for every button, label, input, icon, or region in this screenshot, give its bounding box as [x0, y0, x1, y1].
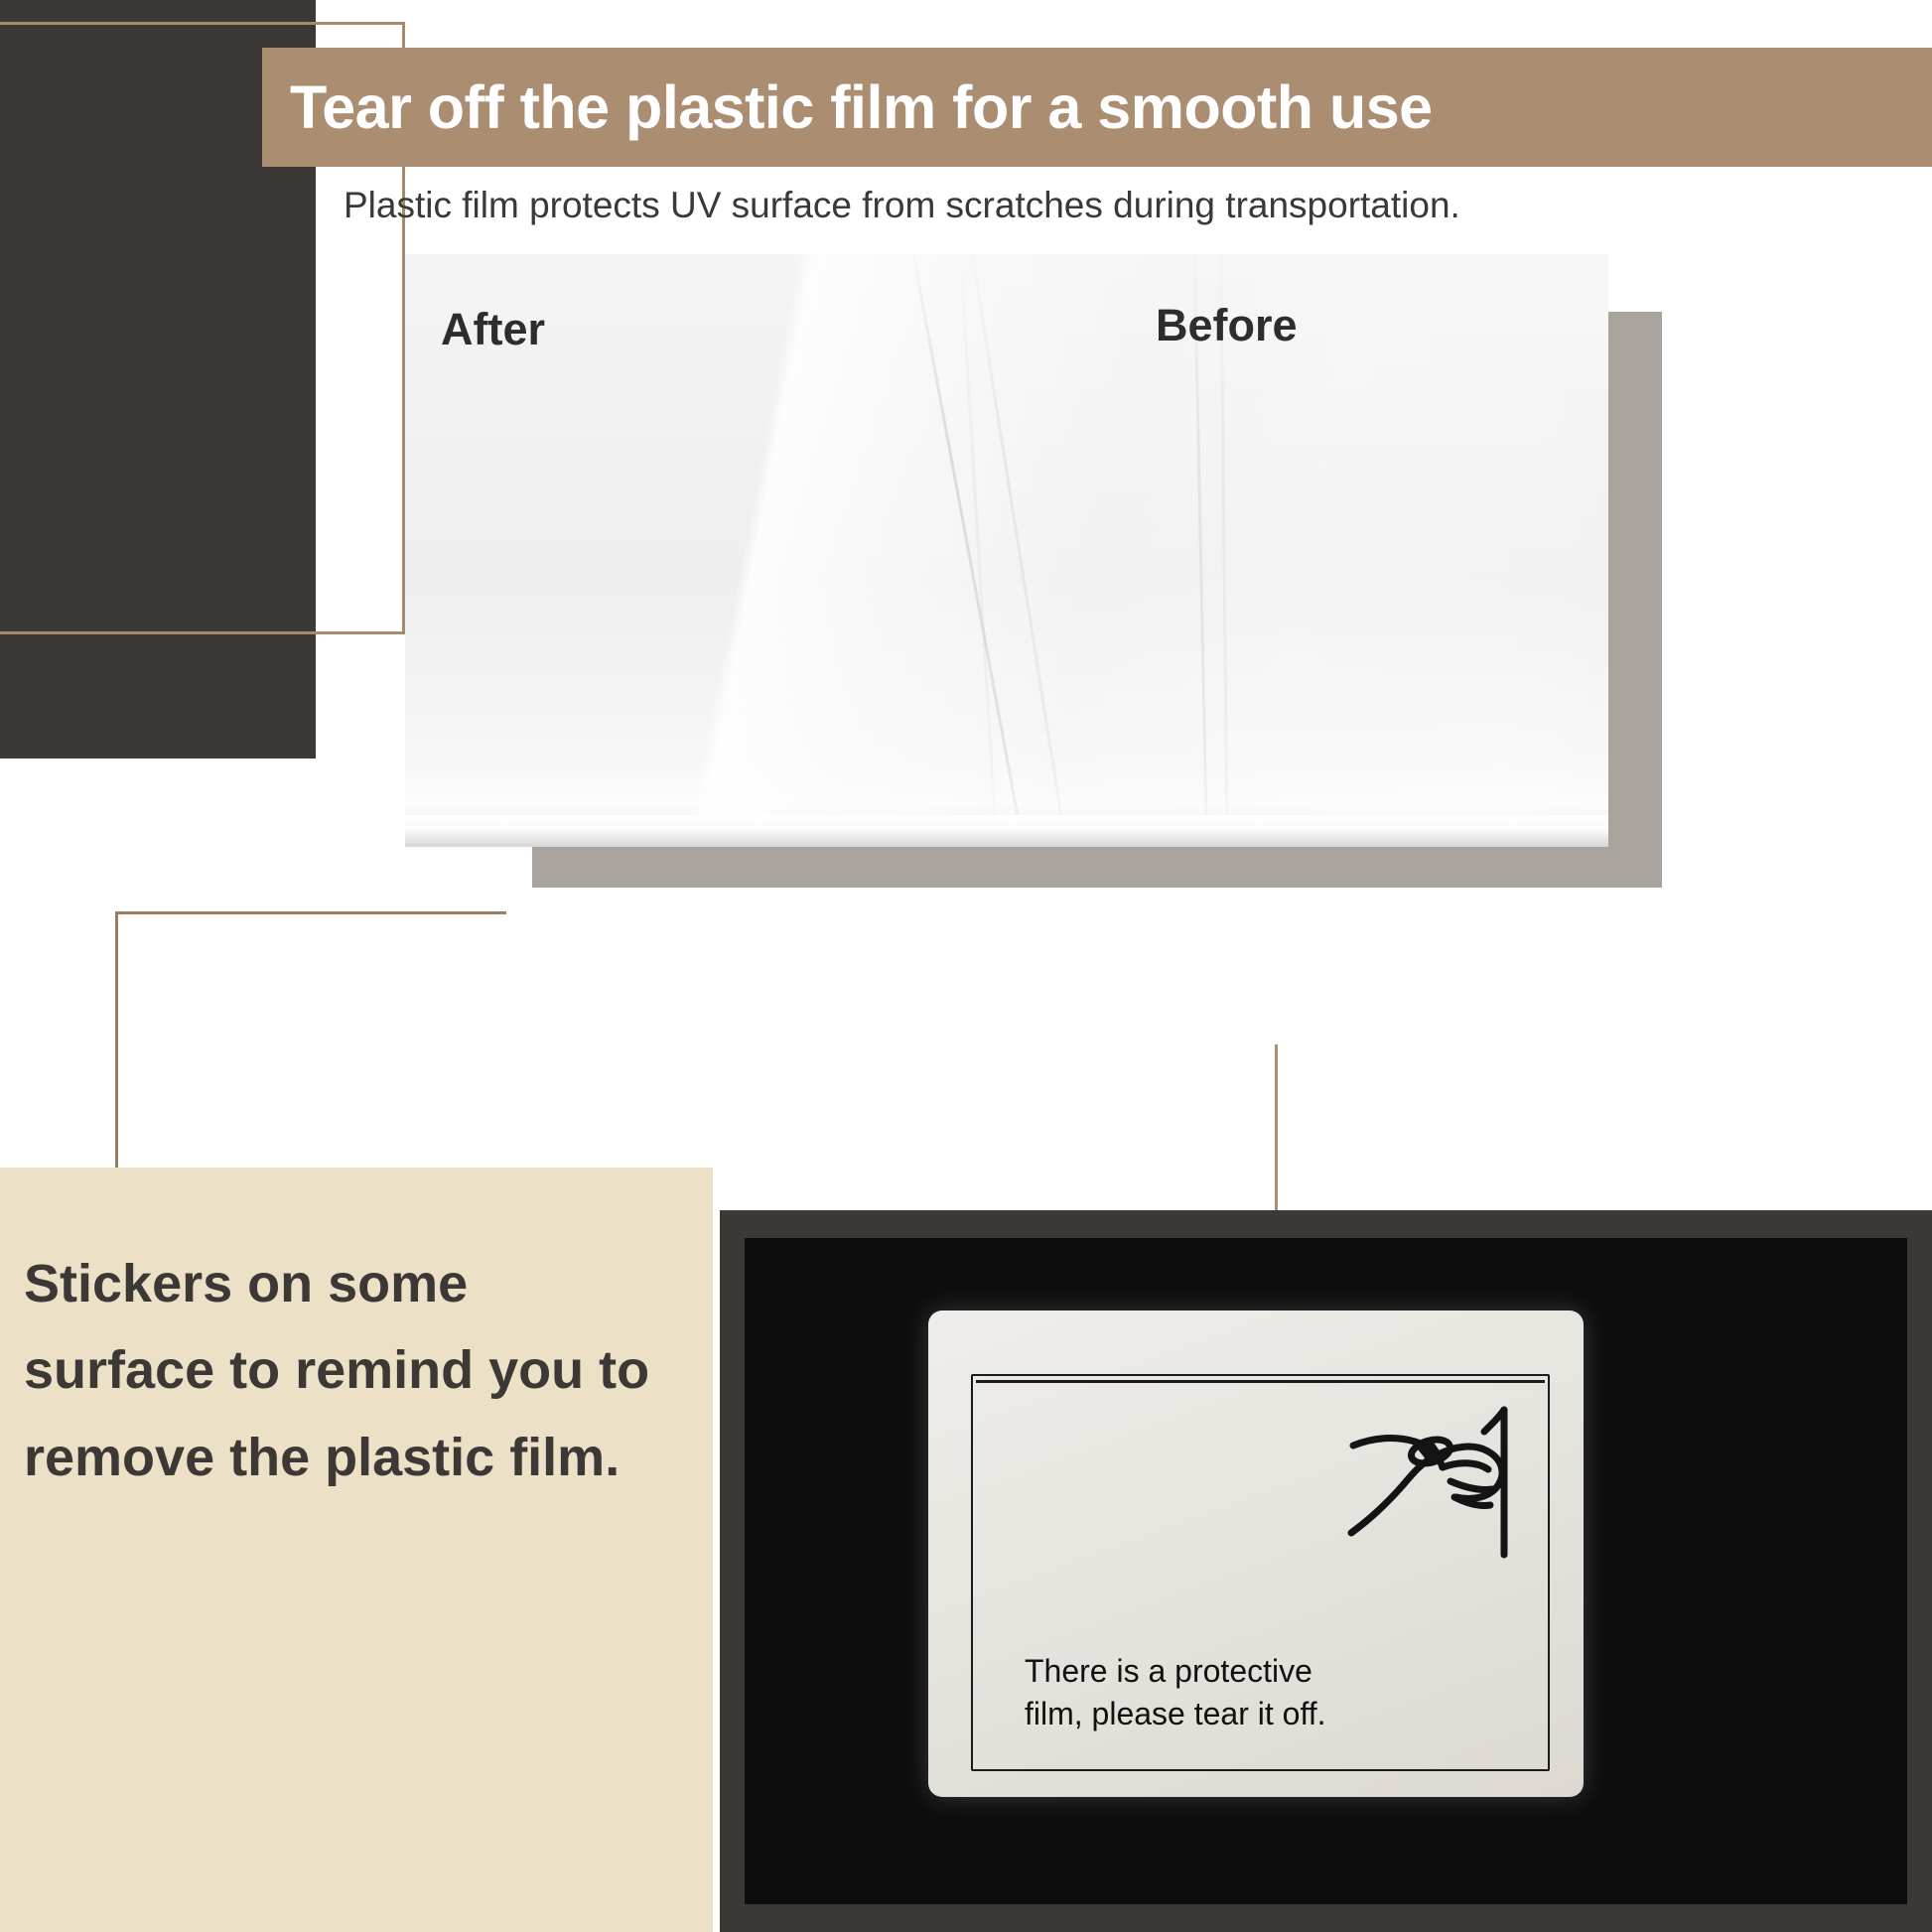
subtitle-text: Plastic film protects UV surface from sc… — [344, 185, 1932, 226]
promo-infographic: Tear off the plastic film for a smooth u… — [0, 0, 1932, 1932]
label-after: After — [441, 304, 545, 355]
glass-bottom-edge — [405, 815, 1608, 847]
callout-text: Stickers on some surface to remind you t… — [24, 1241, 659, 1501]
connector-line-center — [1275, 1044, 1278, 1218]
sticker-text-line2: film, please tear it off. — [1025, 1693, 1491, 1735]
callout-panel: Stickers on some surface to remind you t… — [0, 1168, 713, 1932]
sticker-warning-text: There is a protective film, please tear … — [1025, 1650, 1491, 1735]
sticker-inner-border: There is a protective film, please tear … — [971, 1374, 1550, 1771]
sticker-photo-frame: There is a protective film, please tear … — [720, 1210, 1932, 1932]
glass-panel-photo — [405, 254, 1608, 847]
sticker-text-line1: There is a protective — [1025, 1650, 1491, 1693]
warning-sticker: There is a protective film, please tear … — [928, 1311, 1584, 1797]
label-before: Before — [1156, 300, 1298, 351]
sticker-photo: There is a protective film, please tear … — [745, 1238, 1907, 1904]
hand-peeling-film-icon — [1333, 1386, 1542, 1565]
connector-line-left — [115, 911, 506, 1172]
header-band: Tear off the plastic film for a smooth u… — [262, 48, 1932, 167]
page-title: Tear off the plastic film for a smooth u… — [290, 72, 1433, 142]
